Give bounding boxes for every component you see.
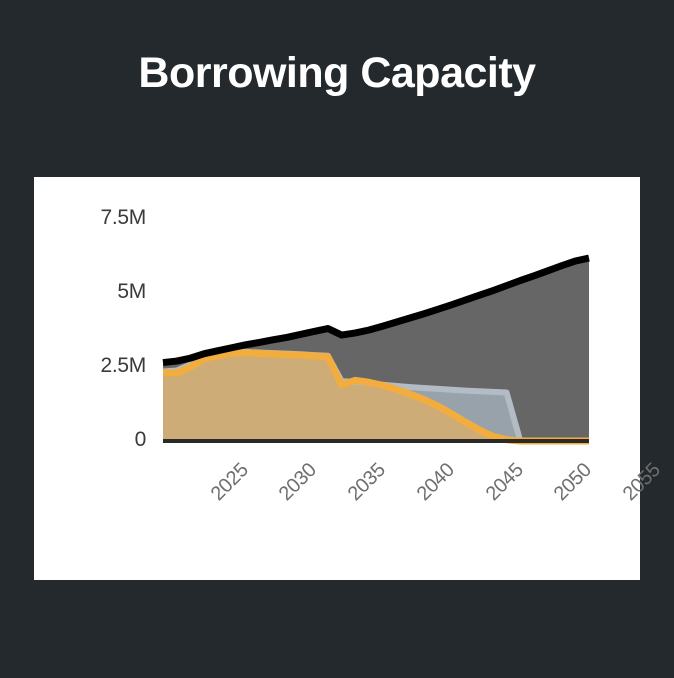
y-tick-label-7.5M: 7.5M — [101, 206, 147, 230]
y-tick-label-2.5M: 2.5M — [101, 354, 147, 378]
borrowing-capacity-area-chart — [34, 177, 640, 580]
y-tick-label-0: 0 — [135, 428, 146, 452]
y-tick-label-5M: 5M — [117, 280, 146, 304]
page-title: Borrowing Capacity — [0, 48, 674, 100]
chart-card: 02.5M5M7.5M 2025203020352040204520502055 — [34, 177, 640, 580]
